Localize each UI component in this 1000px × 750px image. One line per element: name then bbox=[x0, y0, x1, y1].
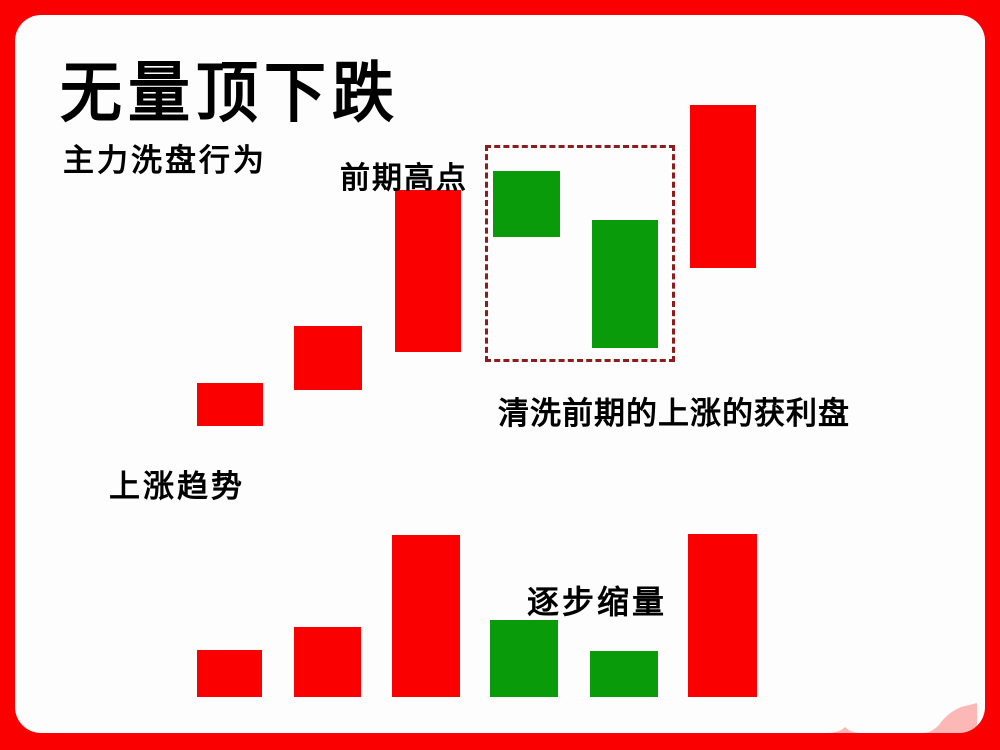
volume-bar-6 bbox=[688, 534, 757, 697]
candlestick-body-3 bbox=[395, 190, 461, 352]
candlestick-body-2 bbox=[294, 326, 362, 390]
volume-bar-3 bbox=[392, 535, 460, 697]
poster-panel: 无量顶下跌 主力洗盘行为 前期高点 上涨趋势 清洗前期的上涨的获利盘 逐步缩量 bbox=[15, 15, 985, 733]
page-title: 无量顶下跌 bbox=[60, 39, 400, 134]
volume-bar-1 bbox=[197, 650, 262, 697]
annotation-shrinking-volume: 逐步缩量 bbox=[527, 577, 667, 623]
candlestick-body-6 bbox=[690, 105, 756, 268]
volume-bar-5 bbox=[590, 651, 658, 697]
annotation-previous-high: 前期高点 bbox=[340, 153, 468, 197]
annotation-wash-profit: 清洗前期的上涨的获利盘 bbox=[498, 388, 850, 433]
volume-bar-2 bbox=[294, 627, 361, 697]
annotation-main-force: 主力洗盘行为 bbox=[63, 135, 267, 180]
highlight-box-dashed bbox=[485, 145, 675, 362]
poster-frame: 无量顶下跌 主力洗盘行为 前期高点 上涨趋势 清洗前期的上涨的获利盘 逐步缩量 bbox=[0, 0, 1000, 750]
candlestick-body-1 bbox=[197, 383, 263, 426]
annotation-uptrend: 上涨趋势 bbox=[109, 461, 245, 506]
volume-bar-4 bbox=[490, 620, 558, 697]
watermark-icon bbox=[827, 699, 977, 733]
